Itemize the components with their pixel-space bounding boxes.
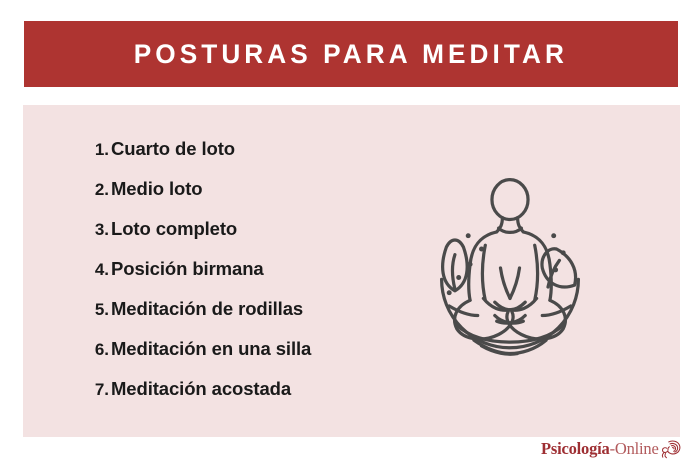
list-item-label: Cuarto de loto [111, 129, 235, 169]
list-item: 2. Medio loto [83, 169, 311, 209]
list-item-label: Meditación de rodillas [111, 289, 303, 329]
list-item: 1. Cuarto de loto [83, 129, 311, 169]
list-item: 5. Meditación de rodillas [83, 289, 311, 329]
list-item-number: 6. [83, 330, 109, 370]
meditating-person-lotus-icon [415, 173, 605, 363]
list-item: 6. Meditación en una silla [83, 329, 311, 369]
header-bar: POSTURAS PARA MEDITAR [24, 21, 678, 87]
list-item-number: 2. [83, 170, 109, 210]
list-item: 3. Loto completo [83, 209, 311, 249]
site-logo[interactable]: Psicología -Online [541, 437, 682, 461]
logo-suffix-text: -Online [610, 439, 659, 459]
list-item-label: Medio loto [111, 169, 202, 209]
content-panel: 1. Cuarto de loto 2. Medio loto 3. Loto … [23, 105, 680, 437]
list-item-label: Posición birmana [111, 249, 264, 289]
list-item-number: 4. [83, 250, 109, 290]
list-item-number: 5. [83, 290, 109, 330]
list-item-number: 1. [83, 130, 109, 170]
list-item-number: 7. [83, 370, 109, 410]
brain-icon [660, 439, 682, 459]
list-item-label: Meditación acostada [111, 369, 291, 409]
logo-brand-text: Psicología [541, 439, 610, 459]
list-item-number: 3. [83, 210, 109, 250]
infographic-root: POSTURAS PARA MEDITAR 1. Cuarto de loto … [0, 0, 700, 466]
page-title: POSTURAS PARA MEDITAR [134, 41, 568, 68]
list-item-label: Loto completo [111, 209, 237, 249]
posture-list: 1. Cuarto de loto 2. Medio loto 3. Loto … [83, 129, 311, 409]
list-item: 7. Meditación acostada [83, 369, 311, 409]
list-item-label: Meditación en una silla [111, 329, 311, 369]
list-item: 4. Posición birmana [83, 249, 311, 289]
